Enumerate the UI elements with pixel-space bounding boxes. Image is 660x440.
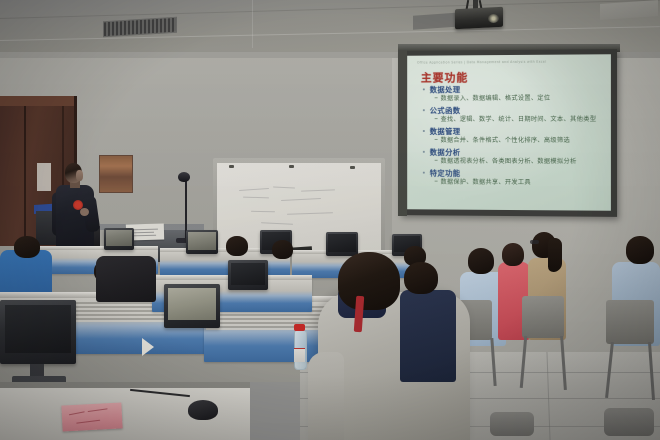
monitor-screen — [5, 305, 71, 353]
whiteboard-writing — [273, 186, 295, 188]
attendee-head — [468, 248, 494, 274]
classroom-photo: Office Application Series | Data Managem… — [0, 0, 660, 440]
chair-seat — [490, 412, 534, 436]
slide-title: 主要功能 — [421, 69, 468, 85]
monitor — [228, 260, 268, 290]
attendee-head — [226, 236, 248, 256]
projection-screen: Office Application Series | Data Managem… — [407, 54, 611, 211]
computer-mouse — [188, 400, 218, 420]
sub-bullet-marker — [435, 139, 438, 140]
wall-notice-paper — [37, 163, 51, 191]
slide-bullet-detail: 数据合并、条件格式、个性化排序、高级筛选 — [441, 135, 570, 144]
sub-bullet-marker — [435, 97, 438, 98]
whiteboard-writing — [261, 222, 293, 225]
card-handwriting — [88, 408, 108, 412]
ceiling-seam — [252, 0, 253, 48]
monitor-screen — [168, 288, 216, 320]
whiteboard-writing — [239, 188, 269, 191]
chair-seat — [604, 408, 654, 436]
attendee-arm — [308, 352, 344, 440]
presenter-hand — [80, 208, 89, 216]
screen-left-edge — [398, 50, 407, 216]
chair-backrest — [522, 296, 564, 338]
attendee-head — [404, 262, 438, 294]
desk-edge — [0, 382, 250, 388]
monitor — [164, 284, 220, 328]
slide-bullet-detail: 数据透视表分析、各类图表分析、数据模拟分析 — [441, 156, 577, 165]
attendee-hair — [548, 238, 562, 272]
monitor — [0, 300, 76, 364]
monitor — [104, 228, 134, 250]
bullet-marker — [423, 151, 425, 153]
bullet-marker — [423, 172, 425, 174]
glasses-icon — [530, 240, 539, 244]
slide-bullet-detail: 数据保护、数据共享、开发工具 — [441, 177, 531, 186]
whiteboard-writing — [287, 212, 333, 215]
whiteboard-writing — [301, 189, 335, 191]
name-card — [61, 402, 122, 431]
whiteboard-clip — [350, 166, 355, 169]
bullet-marker — [423, 88, 425, 90]
bottle-cap — [294, 324, 305, 331]
attendee-navy-shirt — [400, 290, 456, 382]
chair-backrest — [606, 300, 654, 344]
wood-wall-panel — [99, 155, 133, 193]
presenter-face — [76, 170, 83, 181]
bullet-marker — [423, 109, 425, 111]
bottle-label — [294, 348, 305, 362]
bullet-marker — [423, 130, 425, 132]
whiteboard-writing — [243, 197, 269, 199]
monitor-screen — [328, 234, 356, 252]
sub-bullet-marker — [435, 160, 438, 161]
whiteboard-clip — [229, 165, 234, 168]
sub-bullet-marker — [435, 181, 438, 182]
microphone-icon — [178, 172, 190, 182]
folded-paper — [142, 338, 154, 356]
attendee-head — [502, 243, 524, 266]
cabinet-door-seam — [24, 106, 26, 246]
monitor-screen — [188, 232, 216, 250]
card-handwriting — [69, 411, 85, 415]
slide-bullet-detail: 数据录入、数据编辑、格式设置、定位 — [441, 93, 551, 102]
projector-lens-icon — [488, 14, 499, 23]
attendee-head — [14, 236, 40, 258]
attendee-head — [272, 240, 293, 259]
whiteboard-clip — [289, 165, 294, 168]
whiteboard-writing — [251, 211, 275, 212]
attendee-front-left — [96, 256, 156, 302]
paper-text-line — [130, 229, 158, 231]
monitor-screen — [231, 263, 265, 285]
card-handwriting — [76, 420, 100, 424]
partition-rail — [38, 246, 158, 250]
attendee-head — [626, 236, 654, 264]
cabinet-top-edge — [0, 96, 76, 106]
monitor — [326, 232, 358, 256]
monitor — [186, 230, 218, 254]
attendee-head — [338, 252, 400, 310]
whiteboard-writing — [281, 198, 321, 201]
slide-bullet-detail: 查找、逻辑、数学、统计、日期时间、文本、其他类型 — [441, 114, 597, 123]
monitor-screen — [106, 230, 132, 246]
sub-bullet-marker — [435, 118, 438, 119]
